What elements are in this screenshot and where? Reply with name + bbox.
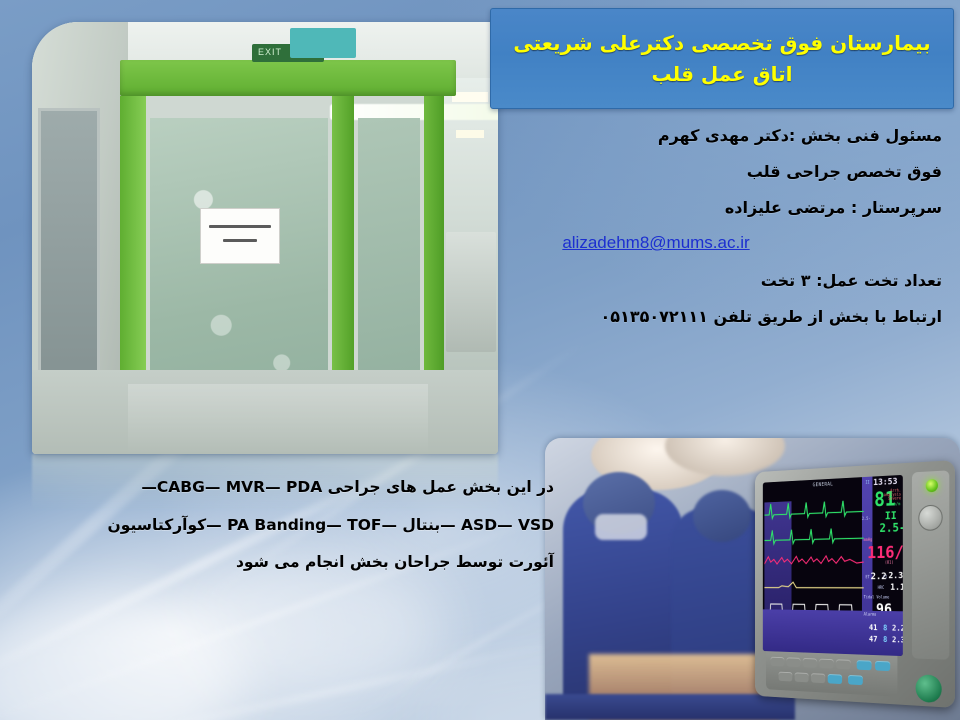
hrc-value: 1.1 <box>890 584 903 593</box>
monitor-side-panel <box>912 470 949 659</box>
keypad-key[interactable] <box>787 657 801 667</box>
monitor-screen: GENERAL 13:53 <box>763 475 903 656</box>
procedures-line-2: ASD— VSD —بنتال —PA Banding— TOF —کوآرکت… <box>6 518 554 534</box>
alarms-label: Alarms <box>864 613 877 617</box>
alarm-value-b: 47 <box>869 636 877 644</box>
monitor-brand-label: GENERAL <box>813 482 834 489</box>
surgical-mask-icon <box>595 514 647 540</box>
pressure-waveform-icon <box>764 546 863 572</box>
procedures-text: در این بخش عمل های جراحی CABG— MVR— PDA—… <box>6 480 554 571</box>
keypad-key[interactable] <box>836 659 851 669</box>
email-link[interactable]: alizadehm8@mums.ac.ir <box>562 233 749 252</box>
ceiling-light <box>452 92 488 102</box>
sign-text-line <box>223 239 257 242</box>
keypad-key[interactable] <box>857 660 872 670</box>
sterile-zone-sign <box>290 28 356 58</box>
hrc-label: HRC <box>878 586 884 590</box>
background-streak <box>65 636 575 720</box>
ecg-waveform-icon <box>764 492 863 520</box>
header-banner: بیمارستان فوق تخصصی دکترعلی شریعتی اتاق … <box>490 8 954 109</box>
keypad-key[interactable] <box>803 658 817 668</box>
tidal-volume-label: Tidal Volume <box>864 595 890 599</box>
alarm-value-d1: 2.2 <box>892 625 903 633</box>
slide-canvas: بیمارستان فوق تخصصی دکترعلی شریعتی اتاق … <box>0 0 960 720</box>
keypad-key[interactable] <box>828 674 842 684</box>
st-small-value: -2.5 <box>862 517 870 521</box>
background-glow <box>0 600 240 720</box>
ecg-lead-label: II <box>885 510 897 521</box>
green-door-header <box>120 60 456 96</box>
co-label: ET <box>865 575 869 579</box>
surgical-drape <box>545 694 795 720</box>
procedures-line-1: در این بخش عمل های جراحی CABG— MVR— PDA— <box>6 480 554 496</box>
keypad-key[interactable] <box>819 659 833 669</box>
department-info: مسئول فنی بخش :دکتر مهدی کهرم فوق تخصص ج… <box>382 128 942 345</box>
ecg-waveform-icon <box>764 519 863 546</box>
monitor-alarm-bar <box>763 609 903 656</box>
head-nurse-line: سرپرستار : مرتضی علیزاده <box>382 200 942 216</box>
keypad-key[interactable] <box>811 673 825 683</box>
hospital-title: بیمارستان فوق تخصصی دکترعلی شریعتی <box>513 31 930 56</box>
surgeon-head <box>693 490 751 542</box>
bed-count-line: تعداد تخت عمل: ۳ تخت <box>382 273 942 289</box>
ci-value: 2.3 <box>888 572 902 581</box>
alarm-value-a: 41 <box>869 624 877 632</box>
background-glow <box>180 560 440 700</box>
ci-label: FI <box>883 575 887 579</box>
keypad-key[interactable] <box>795 672 809 682</box>
keypad-key[interactable] <box>771 657 785 667</box>
alarm-value-c1: 8 <box>883 625 887 633</box>
st-value: -2.5 <box>880 522 903 534</box>
specialty-line: فوق تخصص جراحی قلب <box>382 164 942 180</box>
floor <box>32 370 498 454</box>
door-warning-sign <box>200 208 280 264</box>
map-value: (81) <box>885 561 894 565</box>
keypad-key[interactable] <box>779 672 793 682</box>
floor-reflection <box>128 384 428 454</box>
ecg-channel-label: II <box>865 481 869 485</box>
heart-rate-unit: b/m <box>894 502 901 506</box>
monitor-dial[interactable] <box>916 674 942 703</box>
patient-monitor: GENERAL 13:53 <box>755 460 955 708</box>
department-title: اتاق عمل قلب <box>651 62 792 87</box>
alarm-value-d2: 2.3 <box>892 636 903 644</box>
respiration-waveform-icon <box>764 573 863 598</box>
sign-text-line <box>209 225 271 228</box>
alarm-value-c2: 8 <box>883 636 887 644</box>
keypad-key[interactable] <box>875 661 890 671</box>
bp-unit-label: mmHg <box>864 538 872 542</box>
email-row: alizadehm8@mums.ac.ir <box>382 234 942 251</box>
keypad-key[interactable] <box>848 675 863 685</box>
operating-room-photo: GENERAL 13:53 <box>545 438 960 720</box>
procedures-line-3: آئورت توسط جراحان بخش انجام می شود <box>6 555 554 571</box>
arrhythmia-alarm-label: Arrh. analysis Severe <box>880 489 902 502</box>
phone-line: ارتباط با بخش از طریق تلفن ۰۵۱۳۵۰۷۲۱۱۱ <box>382 309 942 325</box>
technical-manager-line: مسئول فنی بخش :دکتر مهدی کهرم <box>382 128 942 144</box>
